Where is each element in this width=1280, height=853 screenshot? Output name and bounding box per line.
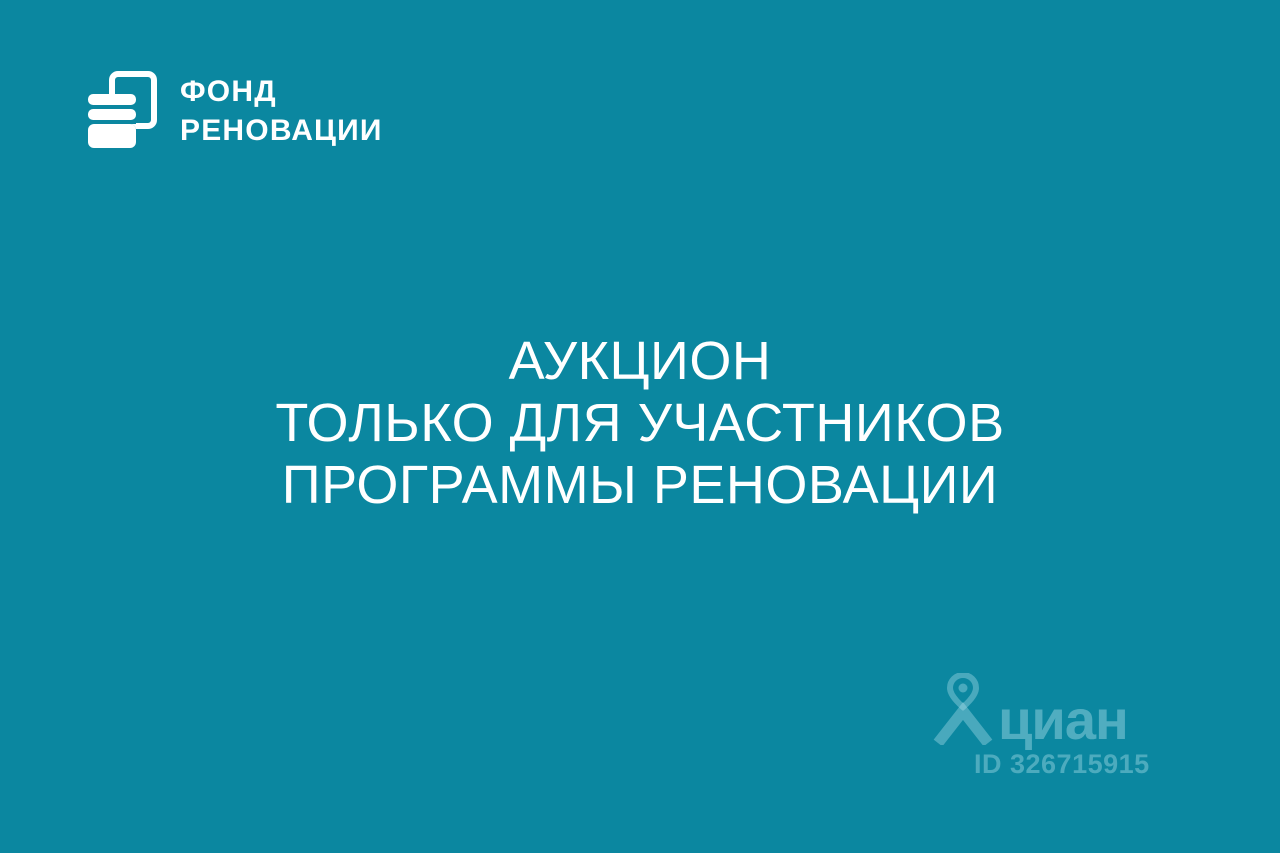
brand-line-1: ФОНД — [180, 77, 383, 107]
cian-listing-id: ID 326715915 — [974, 749, 1150, 780]
headline-block: АУКЦИОН ТОЛЬКО ДЛЯ УЧАСТНИКОВ ПРОГРАММЫ … — [0, 330, 1280, 516]
cian-watermark-row: циан — [932, 673, 1128, 745]
cian-pin-chevron-icon — [932, 673, 994, 745]
brand-line-2: РЕНОВАЦИИ — [180, 116, 383, 146]
brand-wordmark: ФОНД РЕНОВАЦИИ — [180, 77, 383, 146]
cian-brand-text: циан — [998, 695, 1128, 745]
headline-line-2: ТОЛЬКО ДЛЯ УЧАСТНИКОВ — [0, 392, 1280, 454]
poster-canvas: ФОНД РЕНОВАЦИИ АУКЦИОН ТОЛЬКО ДЛЯ УЧАСТН… — [0, 0, 1280, 853]
fond-renovacii-mark-icon — [84, 68, 160, 154]
cian-watermark: циан ID 326715915 — [932, 673, 1162, 783]
headline-line-1: АУКЦИОН — [0, 330, 1280, 392]
brand-logo: ФОНД РЕНОВАЦИИ — [84, 68, 383, 154]
headline-line-3: ПРОГРАММЫ РЕНОВАЦИИ — [0, 454, 1280, 516]
